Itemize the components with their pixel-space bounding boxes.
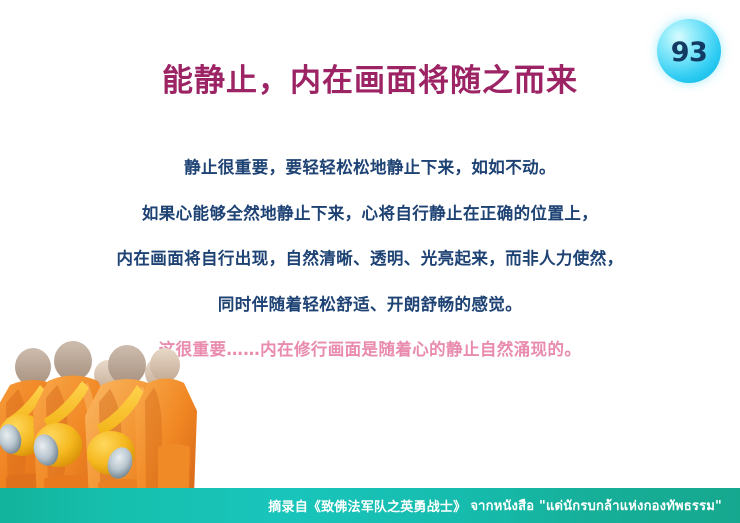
body-line: 内在画面将自行出现，自然清晰、透明、光亮起来，而非人力使然，	[0, 251, 740, 268]
page-title: 能静止，内在画面将随之而来	[0, 62, 740, 101]
slide-canvas: 93 能静止，内在画面将随之而来 静止很重要，要轻轻松松地静止下来，如如不动。 …	[0, 0, 740, 523]
footer-source-thai: จากหนังสือ "แด่นักรบกล้าแห่งกองทัพธรรม"	[470, 495, 722, 516]
body-line: 同时伴随着轻松舒适、开朗舒畅的感觉。	[0, 297, 740, 314]
footer-source-chinese: 摘录自《致佛法军队之英勇战士》	[268, 496, 466, 515]
footer-attribution: 摘录自《致佛法军队之英勇战士》 จากหนังสือ "แด่นักรบกล้า…	[0, 488, 740, 523]
body-line: 静止很重要，要轻轻松松地静止下来，如如不动。	[0, 160, 740, 177]
body-line: 如果心能够全然地静止下来，心将自行静止在正确的位置上，	[0, 206, 740, 223]
